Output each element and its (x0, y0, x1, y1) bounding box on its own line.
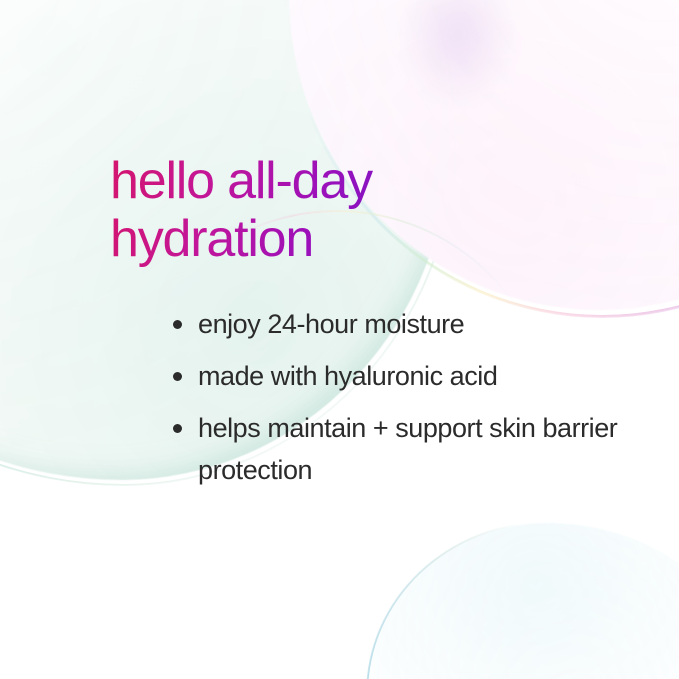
list-item: helps maintain + support skin barrier pr… (168, 407, 638, 491)
bullet-dot-icon (173, 372, 182, 381)
benefit-text: made with hyaluronic acid (198, 355, 638, 397)
headline-line-2: hydration (110, 209, 590, 269)
product-benefits-graphic: hello all-day hydration enjoy 24-hour mo… (0, 0, 679, 679)
text-content: hello all-day hydration enjoy 24-hour mo… (0, 0, 679, 679)
list-item: enjoy 24-hour moisture (168, 303, 638, 345)
benefit-text: enjoy 24-hour moisture (198, 303, 638, 345)
headline: hello all-day hydration (110, 151, 590, 269)
list-item: made with hyaluronic acid (168, 355, 638, 397)
headline-line-1: hello all-day (110, 151, 590, 211)
bullet-dot-icon (173, 424, 182, 433)
benefits-list: enjoy 24-hour moisture made with hyaluro… (168, 303, 638, 491)
bullet-dot-icon (173, 320, 182, 329)
benefit-text: helps maintain + support skin barrier pr… (198, 407, 638, 491)
